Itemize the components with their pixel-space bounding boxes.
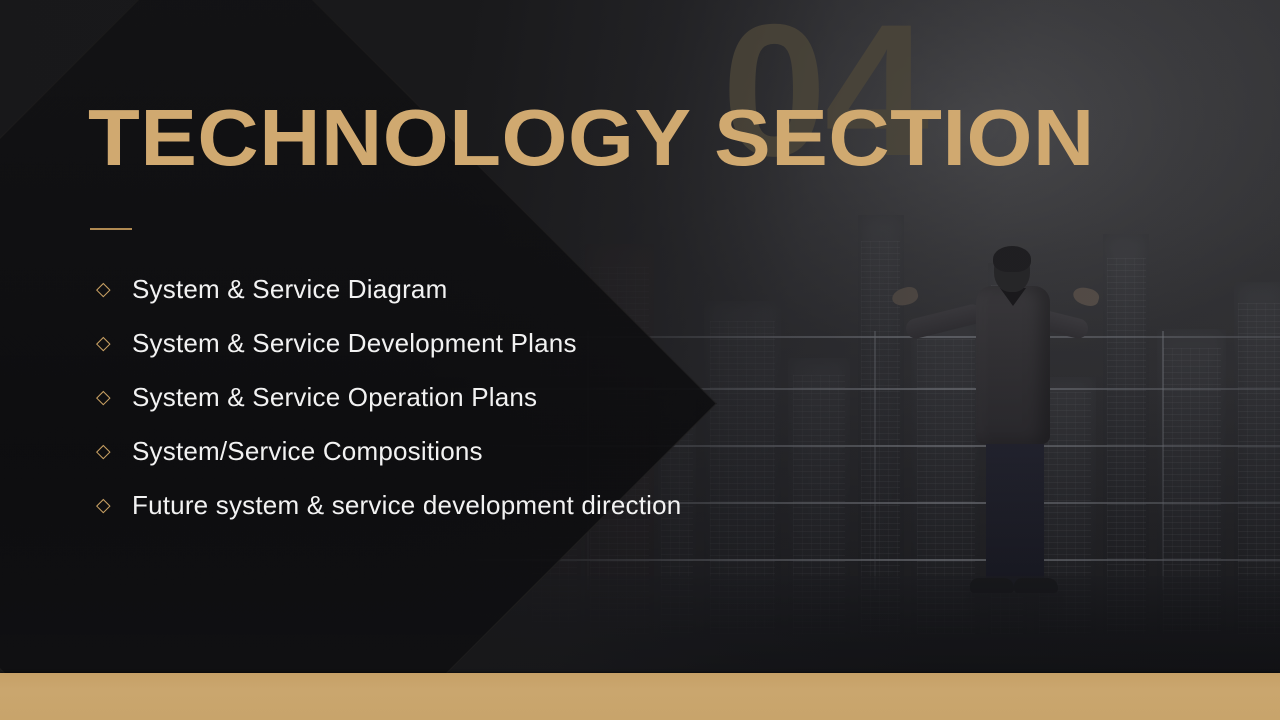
bottom-gold-band — [0, 673, 1280, 720]
presentation-slide: 04 TECHNOLOGY SECTION ◇ System & Service… — [0, 0, 1280, 720]
diamond-bullet-icon: ◇ — [96, 496, 132, 515]
slide-content: TECHNOLOGY SECTION ◇ System & Service Di… — [0, 0, 1280, 720]
page-title: TECHNOLOGY SECTION — [88, 98, 1095, 178]
title-underline-rule — [90, 228, 132, 230]
list-item: ◇ System & Service Development Plans — [96, 316, 681, 370]
diamond-bullet-icon: ◇ — [96, 388, 132, 407]
diamond-bullet-icon: ◇ — [96, 280, 132, 299]
list-item: ◇ System & Service Diagram — [96, 262, 681, 316]
diamond-bullet-icon: ◇ — [96, 442, 132, 461]
bullet-list: ◇ System & Service Diagram ◇ System & Se… — [96, 262, 681, 532]
list-item: ◇ System & Service Operation Plans — [96, 370, 681, 424]
list-item-label: System & Service Diagram — [132, 274, 447, 305]
list-item-label: System & Service Development Plans — [132, 328, 577, 359]
list-item: ◇ System/Service Compositions — [96, 424, 681, 478]
diamond-bullet-icon: ◇ — [96, 334, 132, 353]
list-item: ◇ Future system & service development di… — [96, 478, 681, 532]
list-item-label: System/Service Compositions — [132, 436, 483, 467]
list-item-label: Future system & service development dire… — [132, 490, 681, 521]
list-item-label: System & Service Operation Plans — [132, 382, 537, 413]
